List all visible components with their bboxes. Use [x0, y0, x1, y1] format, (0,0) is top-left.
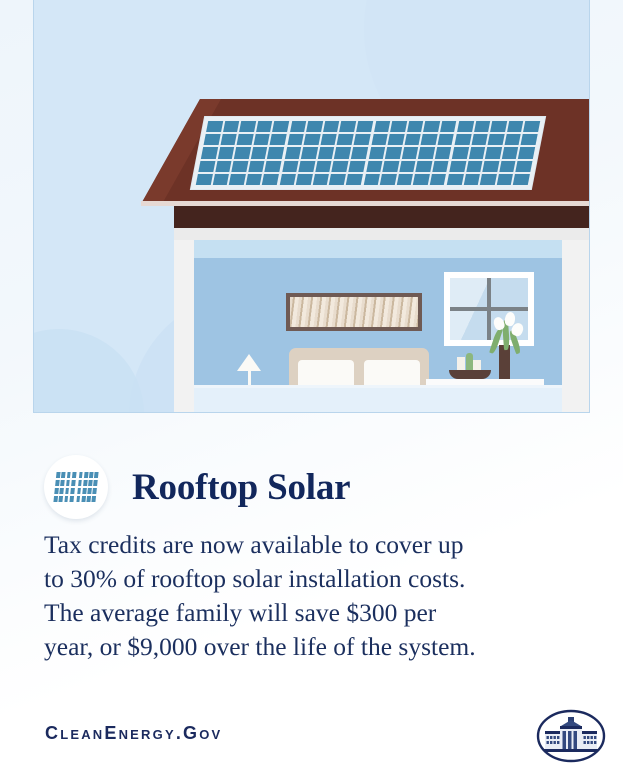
solar-panel-icon-grid: [53, 472, 98, 502]
solar-icon-cell: [71, 480, 75, 486]
solar-icon-cell: [88, 480, 92, 486]
solar-cell: [272, 121, 289, 132]
solar-cell: [323, 121, 340, 132]
solar-icon-cell: [83, 480, 87, 486]
solar-cell: [296, 174, 313, 185]
solar-icon-cell: [89, 472, 93, 478]
candle: [473, 360, 481, 370]
solar-cell: [404, 134, 421, 145]
solar-cell: [429, 174, 446, 185]
solar-cell: [402, 147, 419, 158]
infographic-card: Rooftop Solar Tax credits are now availa…: [0, 0, 623, 778]
solar-panel-group: [447, 121, 540, 185]
solar-icon-cell: [77, 488, 81, 494]
solar-cell: [229, 174, 246, 185]
solar-cell: [329, 174, 346, 185]
solar-cell: [366, 161, 383, 172]
solar-cell: [280, 174, 297, 185]
solar-cell: [396, 174, 413, 185]
solar-cell: [485, 147, 502, 158]
solar-cell: [399, 161, 416, 172]
solar-cell: [239, 121, 256, 132]
solar-cell: [415, 161, 432, 172]
headline-row: Rooftop Solar: [44, 455, 350, 519]
solar-cell: [198, 161, 215, 172]
solar-cell: [455, 134, 472, 145]
solar-cell: [418, 147, 435, 158]
footer-brand-link[interactable]: CleanEnergy.Gov: [45, 723, 222, 744]
solar-icon-cell: [72, 472, 76, 478]
solar-panel-group: [280, 121, 373, 185]
floor: [194, 388, 562, 412]
illustration-panel: [33, 0, 590, 413]
solar-cell: [363, 174, 380, 185]
solar-cell: [469, 147, 486, 158]
solar-cell: [334, 147, 351, 158]
solar-panel-icon: [44, 455, 108, 519]
window-mullion-horizontal: [450, 307, 528, 311]
solar-cell: [516, 161, 533, 172]
solar-cell: [346, 174, 363, 185]
solar-cell: [513, 174, 530, 185]
body-line: to 30% of rooftop solar installation cos…: [44, 562, 564, 596]
solar-cell: [474, 121, 491, 132]
solar-cell: [385, 147, 402, 158]
solar-icon-cell: [82, 488, 86, 494]
solar-cell: [390, 121, 407, 132]
solar-cell: [320, 134, 337, 145]
solar-cell: [337, 134, 354, 145]
solar-icon-cell: [61, 472, 65, 478]
solar-icon-cell: [64, 496, 68, 502]
flower-vase: [499, 345, 510, 379]
solar-icon-cell: [60, 480, 64, 486]
solar-cell: [318, 147, 335, 158]
solar-cell: [371, 134, 388, 145]
solar-cell: [285, 147, 302, 158]
solar-cell: [332, 161, 349, 172]
exterior-wall-right: [562, 240, 590, 412]
solar-cell: [215, 161, 232, 172]
body-line: Tax credits are now available to cover u…: [44, 528, 564, 562]
solar-cell: [231, 161, 248, 172]
solar-cell: [502, 147, 519, 158]
solar-cell: [440, 121, 457, 132]
body-copy: Tax credits are now available to cover u…: [44, 528, 564, 664]
solar-panel-array: [191, 117, 545, 189]
solar-icon-cell: [65, 488, 69, 494]
solar-icon-cell: [76, 496, 80, 502]
solar-icon-cell: [87, 488, 91, 494]
candle: [457, 357, 465, 370]
table-lamp-shade: [237, 354, 261, 371]
solar-cell: [304, 134, 321, 145]
solar-cell: [382, 161, 399, 172]
solar-cell: [348, 161, 365, 172]
solar-cell: [435, 147, 452, 158]
solar-icon-cell: [60, 488, 64, 494]
solar-panel-icon-half: [53, 472, 76, 502]
solar-cell: [447, 174, 464, 185]
solar-cell: [256, 121, 273, 132]
solar-cell: [223, 121, 240, 132]
solar-cell: [368, 147, 385, 158]
solar-cell: [423, 121, 440, 132]
roof-fascia-band: [174, 206, 590, 228]
solar-cell: [432, 161, 449, 172]
interior-room: [194, 240, 562, 412]
solar-cell: [299, 161, 316, 172]
solar-cell: [206, 121, 223, 132]
solar-icon-cell: [84, 472, 88, 478]
solar-icon-cell: [93, 488, 97, 494]
solar-cell: [407, 121, 424, 132]
solar-cell: [339, 121, 356, 132]
solar-cell: [483, 161, 500, 172]
pillow: [364, 360, 420, 388]
solar-cell: [282, 161, 299, 172]
body-line: year, or $9,000 over the life of the sys…: [44, 630, 564, 664]
body-line: The average family will save $300 per: [44, 596, 564, 630]
solar-cell: [251, 147, 268, 158]
solar-cell: [421, 134, 438, 145]
solar-cell: [315, 161, 332, 172]
solar-cell: [253, 134, 270, 145]
solar-cell: [203, 134, 220, 145]
solar-cell: [265, 161, 282, 172]
solar-cell: [248, 161, 265, 172]
solar-icon-cell: [53, 496, 57, 502]
solar-panel-icon-half: [76, 472, 99, 502]
solar-cell: [507, 121, 524, 132]
solar-panel-group: [363, 121, 456, 185]
ceiling-strip: [194, 240, 562, 258]
solar-cell: [290, 121, 307, 132]
solar-cell: [212, 174, 229, 185]
solar-cell: [245, 174, 262, 185]
solar-icon-cell: [55, 480, 59, 486]
artwork-canvas: [290, 297, 418, 327]
solar-cell: [306, 121, 323, 132]
table-lamp-stem: [248, 370, 251, 386]
solar-icon-cell: [78, 472, 82, 478]
solar-icon-cell: [78, 480, 82, 486]
solar-cell: [201, 147, 218, 158]
solar-icon-cell: [54, 488, 58, 494]
solar-cell: [196, 174, 213, 185]
solar-cell: [471, 134, 488, 145]
solar-cell: [237, 134, 254, 145]
solar-icon-cell: [86, 496, 90, 502]
solar-cell: [464, 174, 481, 185]
solar-cell: [388, 134, 405, 145]
solar-cell: [457, 121, 474, 132]
solar-cell: [287, 134, 304, 145]
solar-icon-cell: [92, 496, 96, 502]
solar-cell: [523, 121, 540, 132]
white-house-seal-icon: [536, 709, 606, 763]
solar-panel-group: [196, 121, 289, 185]
solar-cell: [234, 147, 251, 158]
solar-cell: [452, 147, 469, 158]
solar-cell: [262, 174, 279, 185]
solar-icon-cell: [93, 480, 97, 486]
exterior-wall-left: [174, 240, 194, 412]
pillow: [298, 360, 354, 388]
solar-icon-cell: [94, 472, 98, 478]
solar-cell: [480, 174, 497, 185]
solar-cell: [220, 134, 237, 145]
solar-cell: [270, 134, 287, 145]
solar-icon-cell: [81, 496, 85, 502]
solar-cell: [380, 174, 397, 185]
solar-cell: [351, 147, 368, 158]
solar-icon-cell: [59, 496, 63, 502]
solar-cell: [488, 134, 505, 145]
solar-icon-cell: [69, 496, 73, 502]
solar-cell: [521, 134, 538, 145]
solar-cell: [437, 134, 454, 145]
solar-cell: [374, 121, 391, 132]
solar-cell: [504, 134, 521, 145]
green-candle: [466, 353, 473, 370]
solar-cell: [217, 147, 234, 158]
solar-cell: [490, 121, 507, 132]
solar-cell: [356, 121, 373, 132]
solar-cell: [301, 147, 318, 158]
solar-cell: [518, 147, 535, 158]
solar-cell: [466, 161, 483, 172]
solar-cell: [313, 174, 330, 185]
solar-cell: [497, 174, 514, 185]
decor-bowl: [449, 370, 491, 379]
background-circle-decor: [33, 329, 144, 413]
solar-icon-cell: [56, 472, 60, 478]
page-title: Rooftop Solar: [132, 466, 350, 509]
solar-icon-cell: [66, 472, 70, 478]
solar-cell: [353, 134, 370, 145]
solar-cell: [499, 161, 516, 172]
solar-cell: [413, 174, 430, 185]
framed-artwork: [286, 293, 422, 331]
solar-cell: [450, 161, 467, 172]
solar-cell: [267, 147, 284, 158]
solar-icon-cell: [70, 488, 74, 494]
roof-soffit: [174, 228, 590, 240]
solar-icon-cell: [66, 480, 70, 486]
